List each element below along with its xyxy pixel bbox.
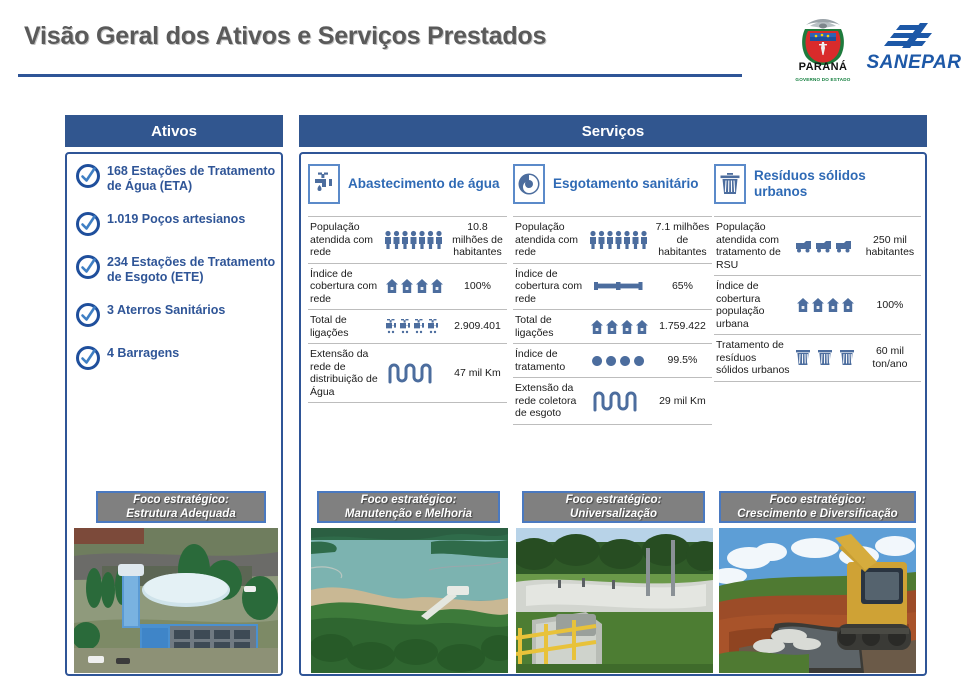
logo-group: PARANÁ GOVERNO DO ESTADO SANEPAR xyxy=(792,16,964,84)
service-column-agua: Abastecimento de água População atendida… xyxy=(308,158,507,403)
foco-estrategico-esgoto: Foco estratégico: Universalização xyxy=(522,491,705,523)
row-icons xyxy=(587,378,653,425)
row-value: 99.5% xyxy=(653,344,712,378)
list-item-label: 3 Aterros Sanitários xyxy=(107,301,225,318)
row-value: 60 mil ton/ano xyxy=(859,335,921,382)
row-label: População atendida com rede xyxy=(308,217,382,264)
row-icons xyxy=(793,335,859,382)
service-title-label: Resíduos sólidos urbanos xyxy=(754,168,921,200)
list-item: 234 Estações de Tratamento de Esgoto (ET… xyxy=(75,253,277,285)
foco-estrategico-agua: Foco estratégico: Manutenção e Melhoria xyxy=(317,491,500,523)
check-circle-icon xyxy=(75,163,101,189)
list-item: 3 Aterros Sanitários xyxy=(75,301,277,328)
table-row: População atendida com tratamento de RSU… xyxy=(714,217,921,276)
foco-estrategico-ativos: Foco estratégico: Estrutura Adequada xyxy=(96,491,266,523)
section-header-servicos: Serviços xyxy=(299,115,927,147)
slide-header: Visão Geral dos Ativos e Serviços Presta… xyxy=(0,0,972,96)
faucet-icon xyxy=(308,164,340,204)
row-label: Extensão da rede coletora de esgoto xyxy=(513,378,587,425)
trashcan-icon xyxy=(714,164,746,204)
row-label: População atendida com rede xyxy=(513,217,587,264)
row-label: Índice de cobertura com rede xyxy=(308,263,382,310)
table-row: Total de ligações 1.759.422 xyxy=(513,310,712,344)
table-row: Extensão da rede de distribuição de Água… xyxy=(308,344,507,403)
row-value: 10.8 milhões de habitantes xyxy=(448,217,507,264)
house-icon-group xyxy=(795,297,857,313)
service-column-rsu: Resíduos sólidos urbanos População atend… xyxy=(714,158,921,382)
person-icon-group xyxy=(384,230,446,250)
list-item-label: 168 Estações de Tratamento de Água (ETA) xyxy=(107,162,277,194)
pipe-icon xyxy=(589,389,651,413)
pipe-icon xyxy=(384,361,446,385)
row-value: 2.909.401 xyxy=(448,310,507,344)
row-label: Total de ligações xyxy=(513,310,587,344)
row-label: Índice de tratamento xyxy=(513,344,587,378)
parana-subtitle: GOVERNO DO ESTADO xyxy=(792,77,854,82)
photo-excavator-landfill xyxy=(719,528,916,673)
service-column-esgoto: Esgotamento sanitário População atendida… xyxy=(513,158,712,425)
row-label: Total de ligações xyxy=(308,310,382,344)
row-icons xyxy=(587,217,653,264)
droplet-icon-group xyxy=(589,354,651,368)
check-circle-icon xyxy=(75,254,101,280)
service-title-label: Esgotamento sanitário xyxy=(553,176,699,192)
list-item: 1.019 Poços artesianos xyxy=(75,210,277,237)
photo-eta-station xyxy=(74,528,278,673)
row-icons xyxy=(793,276,859,335)
sanepar-wordmark: SANEPAR xyxy=(864,52,964,74)
house-icon-group xyxy=(589,319,651,335)
table-row: Índice de cobertura com rede 65% xyxy=(513,263,712,310)
service-header-rsu: Resíduos sólidos urbanos xyxy=(714,158,921,210)
row-icons xyxy=(587,344,653,378)
table-row: Extensão da rede coletora de esgoto 29 m… xyxy=(513,378,712,425)
house-icon-group xyxy=(384,278,446,294)
table-row: Total de ligações 2.909.401 xyxy=(308,310,507,344)
parana-crest-icon xyxy=(792,17,854,67)
row-label: População atendida com tratamento de RSU xyxy=(714,217,793,276)
row-label: Extensão da rede de distribuição de Água xyxy=(308,344,382,403)
row-label: Tratamento de resíduos sólidos urbanos xyxy=(714,335,793,382)
check-circle-icon xyxy=(75,345,101,371)
row-icons xyxy=(587,310,653,344)
row-value: 100% xyxy=(448,263,507,310)
row-icons xyxy=(382,344,448,403)
table-row: Índice de cobertura população urbana 100… xyxy=(714,276,921,335)
list-item-label: 1.019 Poços artesianos xyxy=(107,210,245,227)
foco-line-1: Foco estratégico: xyxy=(361,493,457,507)
list-item-label: 4 Barragens xyxy=(107,344,179,361)
service-header-esgoto: Esgotamento sanitário xyxy=(513,158,712,210)
ativos-list: 168 Estações de Tratamento de Água (ETA)… xyxy=(75,162,277,387)
row-value: 65% xyxy=(653,263,712,310)
row-label: Índice de cobertura com rede xyxy=(513,263,587,310)
list-item-label: 234 Estações de Tratamento de Esgoto (ET… xyxy=(107,253,277,285)
service-table-rsu: População atendida com tratamento de RSU… xyxy=(714,216,921,382)
list-item: 168 Estações de Tratamento de Água (ETA) xyxy=(75,162,277,194)
row-value: 1.759.422 xyxy=(653,310,712,344)
foco-line-1: Foco estratégico: xyxy=(133,493,229,507)
title-underline xyxy=(18,74,742,77)
check-circle-icon xyxy=(75,211,101,237)
foco-line-2: Estrutura Adequada xyxy=(126,507,235,521)
foco-line-1: Foco estratégico: xyxy=(770,493,866,507)
row-icons xyxy=(382,310,448,344)
row-value: 47 mil Km xyxy=(448,344,507,403)
row-icons xyxy=(587,263,653,310)
photo-reservoir-lake xyxy=(311,528,508,673)
table-row: População atendida com rede xyxy=(513,217,712,264)
sanepar-mark-icon xyxy=(880,22,950,56)
tap-icon-group xyxy=(384,318,446,336)
service-table-esgoto: População atendida com rede xyxy=(513,216,712,425)
section-header-ativos: Ativos xyxy=(65,115,283,147)
row-value: 250 mil habitantes xyxy=(859,217,921,276)
row-icons xyxy=(382,217,448,264)
foco-line-2: Universalização xyxy=(570,507,657,521)
check-circle-icon xyxy=(75,302,101,328)
pipe-section-icon xyxy=(589,278,651,294)
table-row: Índice de cobertura com rede 100% xyxy=(308,263,507,310)
service-title-label: Abastecimento de água xyxy=(348,176,500,192)
table-row: Índice de tratamento 99.5% xyxy=(513,344,712,378)
row-value: 7.1 milhões de habitantes xyxy=(653,217,712,264)
photo-treatment-plant xyxy=(516,528,713,673)
page-title: Visão Geral dos Ativos e Serviços Presta… xyxy=(24,22,546,51)
truck-icon-group xyxy=(795,239,857,253)
service-header-agua: Abastecimento de água xyxy=(308,158,507,210)
foco-estrategico-rsu: Foco estratégico: Crescimento e Diversif… xyxy=(719,491,916,523)
person-icon-group xyxy=(589,230,651,250)
foco-line-2: Crescimento e Diversificação xyxy=(737,507,897,521)
swirl-icon xyxy=(513,164,545,204)
row-icons xyxy=(382,263,448,310)
foco-line-1: Foco estratégico: xyxy=(566,493,662,507)
trashcan-icon-group xyxy=(795,348,857,368)
table-row: População atendida com rede xyxy=(308,217,507,264)
slide-root: Visão Geral dos Ativos e Serviços Presta… xyxy=(0,0,972,681)
sanepar-logo: SANEPAR xyxy=(864,20,964,80)
row-value: 29 mil Km xyxy=(653,378,712,425)
row-label: Índice de cobertura população urbana xyxy=(714,276,793,335)
parana-logo: PARANÁ GOVERNO DO ESTADO xyxy=(792,17,854,83)
row-value: 100% xyxy=(859,276,921,335)
table-row: Tratamento de resíduos sólidos urbanos xyxy=(714,335,921,382)
service-table-agua: População atendida com rede xyxy=(308,216,507,403)
row-icons xyxy=(793,217,859,276)
parana-wordmark: PARANÁ xyxy=(792,61,854,73)
foco-line-2: Manutenção e Melhoria xyxy=(345,507,472,521)
list-item: 4 Barragens xyxy=(75,344,277,371)
